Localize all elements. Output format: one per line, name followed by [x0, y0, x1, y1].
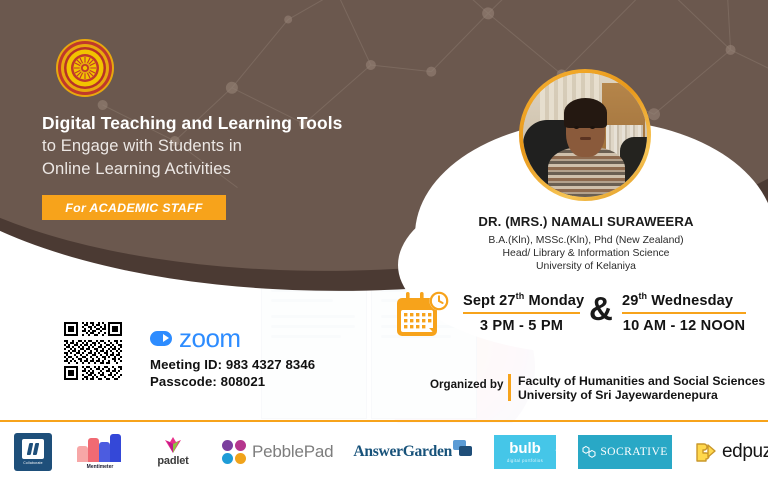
tool-logo-strip: Collaborate Mentimeter padlet [0, 423, 768, 480]
university-crest-logo [55, 38, 115, 98]
organizer-label: Organized by [430, 378, 503, 391]
session-2: 29th Wednesday 10 AM - 12 NOON [622, 291, 746, 334]
session-1-time: 3 PM - 5 PM [463, 318, 580, 334]
session-2-time: 10 AM - 12 NOON [622, 318, 746, 334]
mentimeter-logo: Mentimeter [74, 432, 126, 472]
mentimeter-logo-label: Mentimeter [87, 464, 114, 470]
qr-code[interactable] [62, 320, 124, 382]
pebblepad-logo-label: PebblePad [252, 442, 333, 462]
audience-badge-label: For ACADEMIC STAFF [65, 201, 203, 215]
session-1-date: Sept 27th Monday [463, 291, 584, 309]
session-2-date-prefix: 29 [622, 293, 638, 309]
collaborate-logo: Collaborate [14, 433, 52, 471]
speech-bubble-icon [453, 440, 472, 457]
puzzle-piece-icon [694, 441, 718, 463]
speaker-position: Head/ Library & Information Science [436, 247, 736, 260]
zoom-passcode: Passcode: 808021 [150, 374, 265, 389]
session-1-day: Monday [524, 293, 584, 309]
calendar-clock-icon [395, 290, 451, 340]
speaker-qualifications: B.A.(Kln), MSSc.(Kln), Phd (New Zealand) [436, 234, 736, 247]
session-2-ordinal: th [638, 291, 647, 301]
organizer-divider [508, 374, 511, 401]
session-2-day: Wednesday [647, 293, 733, 309]
headline-line-2: to Engage with Students in [42, 135, 382, 158]
speaker-institution: University of Kelaniya [436, 260, 736, 273]
zoom-brand-label: zoom [179, 325, 241, 351]
session-1: Sept 27th Monday 3 PM - 5 PM [463, 291, 584, 334]
flyer-headline: Digital Teaching and Learning Tools to E… [42, 112, 382, 181]
padlet-logo-label: padlet [157, 455, 188, 467]
socrative-logo-label: SOCRATIVE [600, 445, 667, 458]
organizer-faculty: Faculty of Humanities and Social Science… [518, 374, 765, 388]
speaker-photo [523, 73, 647, 197]
headline-line-1: Digital Teaching and Learning Tools [42, 112, 382, 135]
session-1-divider [463, 312, 580, 314]
pebblepad-dots-icon [222, 440, 246, 464]
bulb-logo-sublabel: digital portfolios [507, 458, 543, 463]
zoom-meeting-id: Meeting ID: 983 4327 8346 [150, 357, 315, 372]
socrative-logo: SOCRATIVE [578, 435, 672, 469]
pebblepad-logo: PebblePad [222, 440, 333, 464]
padlet-logo: padlet [148, 436, 198, 467]
speaker-photo-frame [519, 69, 651, 201]
answergarden-logo: AnswerGarden [353, 443, 472, 461]
padlet-bird-icon [160, 436, 186, 454]
session-1-date-prefix: Sept 27 [463, 293, 516, 309]
session-2-date: 29th Wednesday [622, 291, 746, 309]
bulb-logo: bulb digital portfolios [494, 435, 556, 469]
video-camera-icon [150, 331, 172, 346]
edpuzzle-logo-label: edpuzzle [722, 441, 768, 463]
session-2-divider [622, 312, 746, 314]
audience-badge: For ACADEMIC STAFF [42, 195, 226, 220]
collaborate-logo-label: Collaborate [23, 461, 43, 465]
answergarden-logo-label: AnswerGarden [353, 443, 452, 461]
edpuzzle-logo: edpuzzle [694, 441, 768, 463]
zoom-logo: zoom [150, 325, 241, 351]
socrative-hex-icon [582, 445, 596, 459]
speaker-name: DR. (MRS.) NAMALI SURAWEERA [436, 214, 736, 229]
webinar-flyer: ONLINE EDUCATION [0, 0, 768, 480]
headline-line-3: Online Learning Activities [42, 158, 382, 181]
organizer-university: University of Sri Jayewardenepura [518, 388, 718, 402]
session-separator: & [589, 292, 613, 325]
